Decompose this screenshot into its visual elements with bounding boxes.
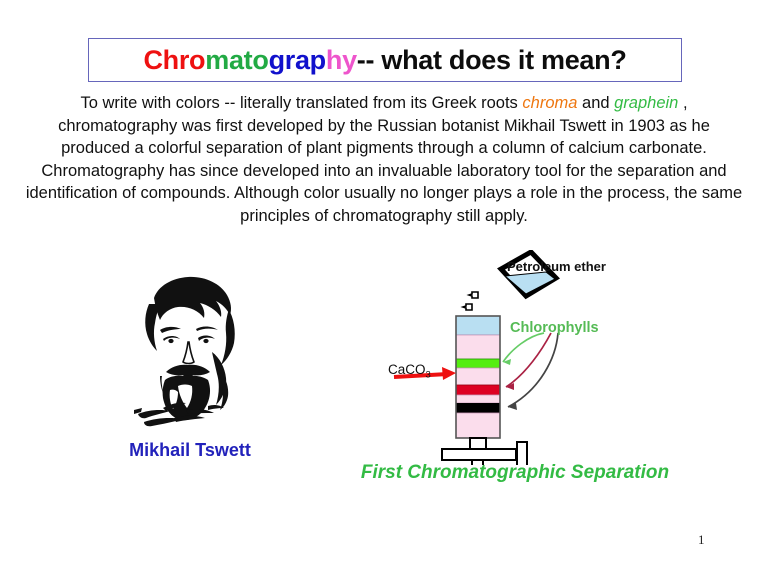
label-chlorophylls: Chlorophylls bbox=[510, 320, 599, 336]
label-petroleum-ether: Petroleum ether bbox=[507, 259, 606, 274]
title-segment-4: hy bbox=[326, 45, 357, 76]
band-packing-upper bbox=[456, 335, 500, 359]
column-stopcock bbox=[442, 438, 527, 465]
page-title: Chromatography -- what does it mean? bbox=[89, 39, 681, 81]
greek-word-chroma: chroma bbox=[522, 94, 577, 112]
greek-word-graphein: graphein bbox=[614, 94, 678, 112]
band-xanthophyll bbox=[456, 403, 500, 413]
title-segment-2: mato bbox=[205, 45, 268, 76]
body-line-1a: To write with colors -- literally transl… bbox=[80, 94, 522, 112]
page-number: 1 bbox=[698, 532, 705, 548]
body-line-2: chromatography was first developed by th… bbox=[58, 117, 606, 135]
band-packing-mid bbox=[456, 368, 500, 385]
label-caco3-subscript: 3 bbox=[426, 370, 431, 381]
solvent-droplets bbox=[463, 292, 478, 310]
body-line-1c: , bbox=[678, 94, 687, 112]
band-solvent-front bbox=[456, 316, 500, 335]
label-caco3-text: CaCO bbox=[388, 362, 426, 377]
body-line-7: of chromatography still apply. bbox=[314, 207, 527, 225]
xanthophyll-arrow bbox=[508, 333, 558, 407]
diagram-caption: First Chromatographic Separation bbox=[330, 462, 700, 484]
chromatography-column-diagram bbox=[360, 250, 660, 465]
portrait-caption: Mikhail Tswett bbox=[60, 440, 320, 461]
body-paragraph: To write with colors -- literally transl… bbox=[24, 92, 744, 227]
band-packing-lower bbox=[456, 395, 500, 403]
tswett-portrait bbox=[108, 268, 268, 428]
title-tail: -- what does it mean? bbox=[357, 45, 627, 76]
title-segment-3: grap bbox=[269, 45, 326, 76]
band-carotene bbox=[456, 385, 500, 395]
label-caco3: CaCO3 bbox=[388, 362, 431, 381]
band-packing-bottom bbox=[456, 413, 500, 438]
title-segment-1: Chro bbox=[143, 45, 205, 76]
title-box: Chromatography -- what does it mean? bbox=[88, 38, 682, 82]
band-chlorophyll-a bbox=[456, 359, 500, 368]
chlorophyll-arrow bbox=[503, 333, 544, 362]
body-line-1b: and bbox=[577, 94, 614, 112]
carotene-arrow bbox=[506, 333, 551, 387]
column-tube bbox=[456, 316, 500, 438]
